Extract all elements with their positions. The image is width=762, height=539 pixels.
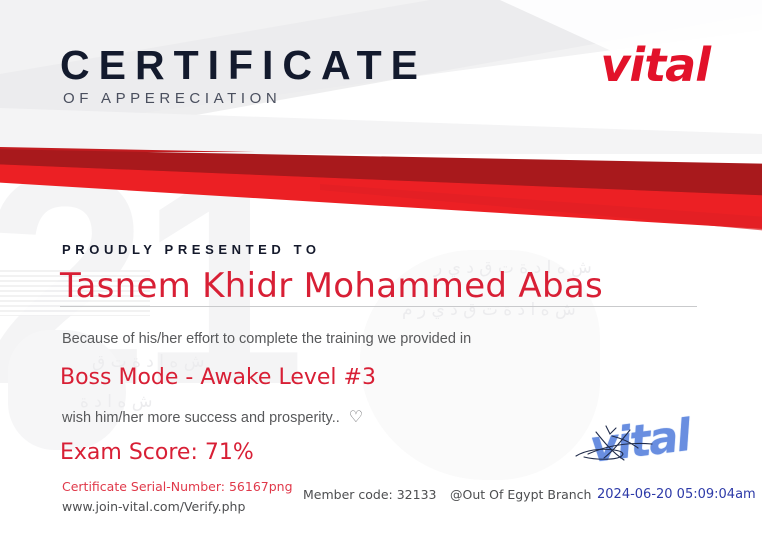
member-code: Member code: 32133 <box>303 487 436 502</box>
vital-logo: vital <box>600 38 710 92</box>
branch-name: @Out Of Egypt Branch <box>450 487 591 502</box>
name-underline-rule <box>60 306 697 307</box>
certificate-document: 21 ش ه ا د ة ت ق د ي ر ش ه ا د ة ت ق د ي… <box>0 0 762 539</box>
exam-score: Exam Score: 71% <box>60 440 254 465</box>
wish-text-row: wish him/her more success and prosperity… <box>62 410 363 426</box>
certificate-subtitle: OF APPERECIATION <box>63 90 281 107</box>
presented-to-label: PROUDLY PRESENTED TO <box>62 242 321 257</box>
wish-text: wish him/her more success and prosperity… <box>62 410 340 426</box>
red-band-shadow <box>0 140 762 230</box>
issued-date: 2024-06-20 05:09:04am <box>597 487 756 502</box>
red-band-hairline <box>0 146 762 152</box>
heart-icon: ♡ <box>349 410 363 426</box>
handwritten-signature-icon <box>566 412 734 488</box>
certificate-serial-number: Certificate Serial-Number: 56167png <box>62 479 293 494</box>
watermark-glyph-row-4: ش ه ا د ة <box>80 392 152 412</box>
watermark-blob-left <box>8 330 126 450</box>
header-grey-shape-lower <box>0 108 762 154</box>
red-band-bright-highlight <box>0 140 762 250</box>
red-band-dark <box>0 140 762 220</box>
recipient-name: Tasnem Khidr Mohammed Abas <box>60 266 603 306</box>
red-band-bright <box>0 140 762 240</box>
course-name: Boss Mode - Awake Level #3 <box>60 365 376 390</box>
certificate-title: CERTIFICATE <box>60 42 427 89</box>
verify-url[interactable]: www.join-vital.com/Verify.php <box>62 499 245 514</box>
signature-stamp: vital <box>566 412 734 488</box>
reason-text: Because of his/her effort to complete th… <box>62 331 471 347</box>
